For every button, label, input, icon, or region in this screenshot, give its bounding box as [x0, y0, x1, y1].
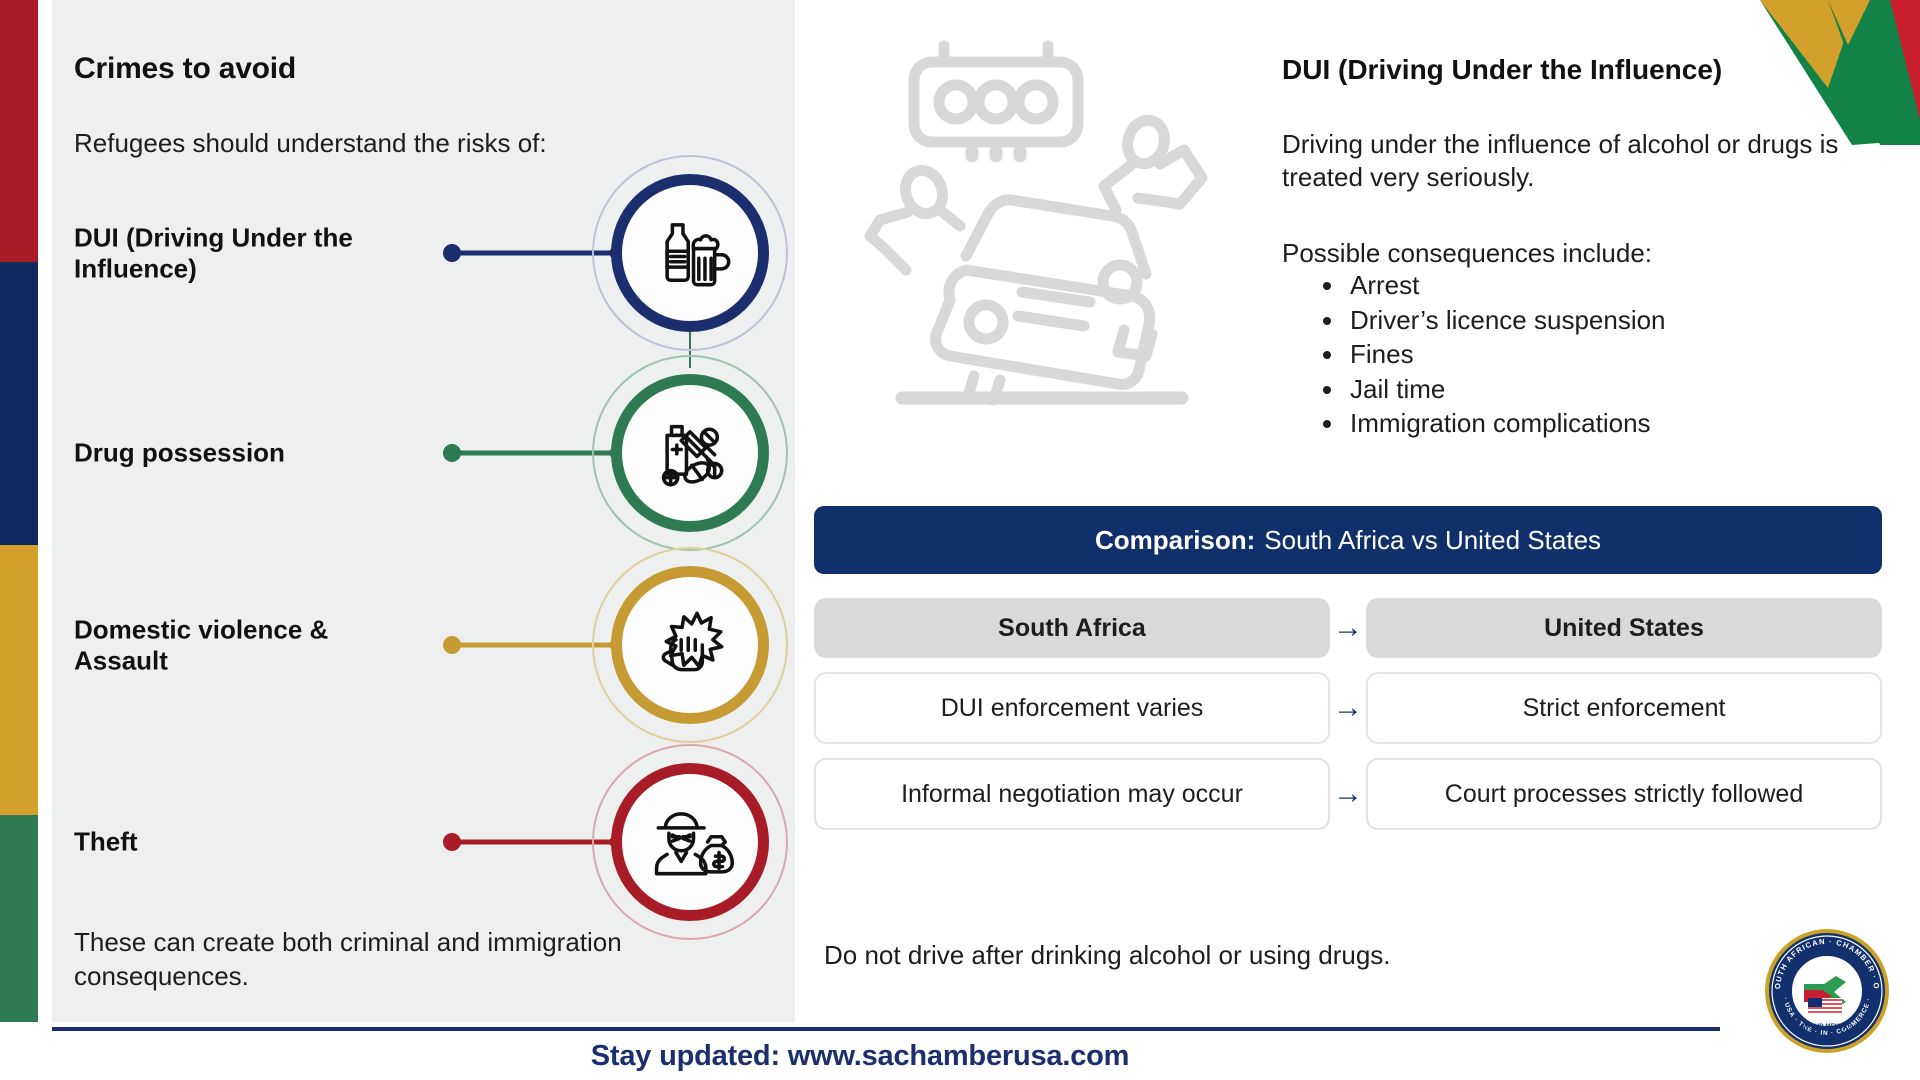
- cell-united-states: Strict enforcement: [1366, 672, 1882, 744]
- sa-chamber-seal-logo: SOUTH AFRICAN · CHAMBER · OF · USA · THE…: [1764, 928, 1890, 1054]
- car-accident-illustration: [862, 24, 1242, 414]
- slide-root: Crimes to avoid Refugees should understa…: [0, 0, 1920, 1080]
- panel-footer-note: These can create both criminal and immig…: [74, 925, 764, 994]
- list-item: Arrest: [1346, 268, 1666, 303]
- table-header-row: South Africa → United States: [814, 598, 1882, 658]
- comparison-banner-label: Comparison:: [1095, 525, 1255, 556]
- accent-bar-green: [0, 815, 38, 1022]
- arrow-right-icon: →: [1330, 613, 1366, 643]
- list-item: Driver’s licence suspension: [1346, 303, 1666, 338]
- footer-divider: [52, 1027, 1720, 1031]
- cell-south-africa: Informal negotiation may occur: [814, 758, 1330, 830]
- accent-bar-red: [0, 0, 38, 262]
- list-item: Jail time: [1346, 372, 1666, 407]
- consequences-list: Arrest Driver’s licence suspension Fines…: [1310, 268, 1666, 441]
- corner-ribbon-decoration: [1720, 0, 1920, 145]
- accent-bar-gold: [0, 545, 38, 815]
- column-header-united-states: United States: [1366, 598, 1882, 658]
- svg-text:PROUD MEMBER: PROUD MEMBER: [1802, 1024, 1853, 1030]
- cell-south-africa: DUI enforcement varies: [814, 672, 1330, 744]
- comparison-note: Do not drive after drinking alcohol or u…: [824, 940, 1391, 971]
- consequences-lead: Possible consequences include:: [1282, 238, 1652, 269]
- arrow-right-icon: →: [1330, 779, 1366, 809]
- footer-url[interactable]: Stay updated: www.sachamberusa.com: [0, 1040, 1720, 1073]
- left-panel: Crimes to avoid Refugees should understa…: [52, 0, 795, 1022]
- page-title: Crimes to avoid: [74, 52, 296, 86]
- cell-united-states: Court processes strictly followed: [1366, 758, 1882, 830]
- table-row: Informal negotiation may occur → Court p…: [814, 758, 1882, 830]
- comparison-banner-text: South Africa vs United States: [1264, 525, 1601, 556]
- arrow-right-icon: →: [1330, 693, 1366, 723]
- comparison-table: South Africa → United States DUI enforce…: [814, 598, 1882, 844]
- list-item: Immigration complications: [1346, 406, 1666, 441]
- accent-bar-navy: [0, 262, 38, 545]
- accent-bar-column: [0, 0, 38, 1022]
- panel-subtitle: Refugees should understand the risks of:: [74, 128, 547, 159]
- column-header-south-africa: South Africa: [814, 598, 1330, 658]
- right-paragraph: Driving under the influence of alcohol o…: [1282, 128, 1842, 195]
- list-item: Fines: [1346, 337, 1666, 372]
- right-heading: DUI (Driving Under the Influence): [1282, 54, 1722, 86]
- comparison-banner: Comparison: South Africa vs United State…: [814, 506, 1882, 574]
- table-row: DUI enforcement varies → Strict enforcem…: [814, 672, 1882, 744]
